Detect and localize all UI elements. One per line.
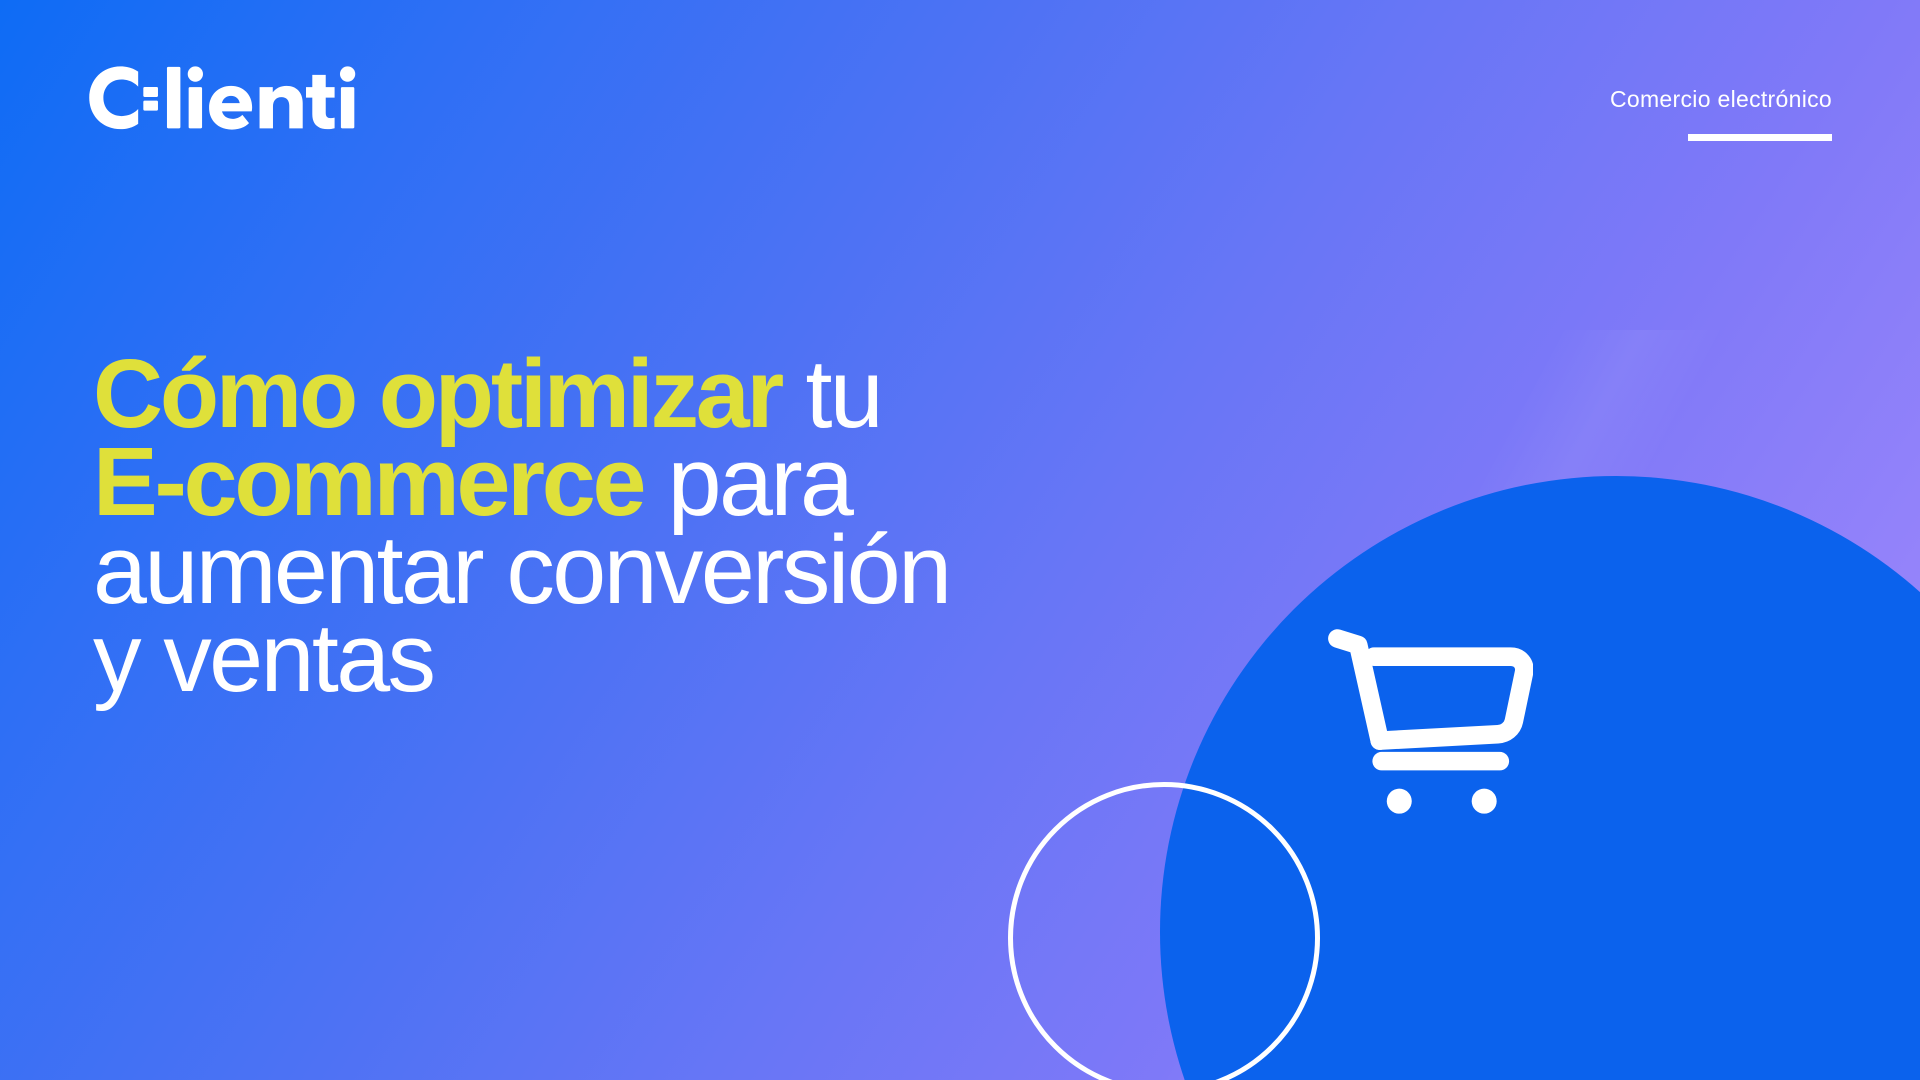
category-underline [1688, 134, 1832, 141]
slide-canvas: Comercio electrónico Cómo optimizar tu E… [0, 0, 1920, 1080]
category-badge: Comercio electrónico [1610, 86, 1832, 141]
page-title: Cómo optimizar tu E-commerce para aument… [93, 350, 1273, 702]
headline-plain-4: y ventas [93, 603, 433, 712]
clientify-logo[interactable] [88, 62, 365, 134]
outline-circle-decoration [1008, 782, 1320, 1080]
headline-line-2: E-commerce para [93, 438, 1273, 526]
category-label: Comercio electrónico [1610, 86, 1832, 114]
headline-line-1: Cómo optimizar tu [93, 350, 1273, 438]
headline-line-3: aumentar conversión [93, 526, 1273, 614]
headline-line-4: y ventas [93, 614, 1273, 702]
